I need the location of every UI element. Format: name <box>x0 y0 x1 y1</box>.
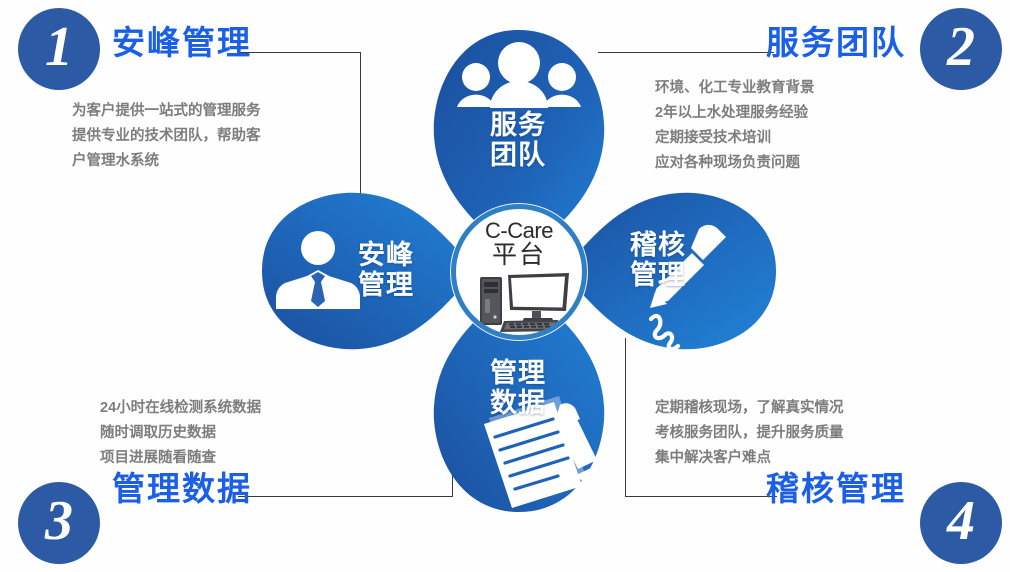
center-hub[interactable]: C-Care 平台 <box>451 204 587 340</box>
center-hub-subtitle: 平台 <box>456 242 582 268</box>
center-hub-title: C-Care <box>456 220 582 242</box>
petal-label-top: 服务 团队 <box>463 110 573 170</box>
petal-label-left: 安峰 管理 <box>340 240 432 300</box>
desktop-computer-icon <box>474 271 574 333</box>
infographic-canvas: 1 2 3 4 安峰管理 服务团队 管理数据 稽核管理 为客户提供一站式的管理服… <box>0 0 1010 572</box>
petal-label-right: 稽核 管理 <box>612 230 704 290</box>
petal-label-bottom: 管理 数据 <box>463 358 573 418</box>
